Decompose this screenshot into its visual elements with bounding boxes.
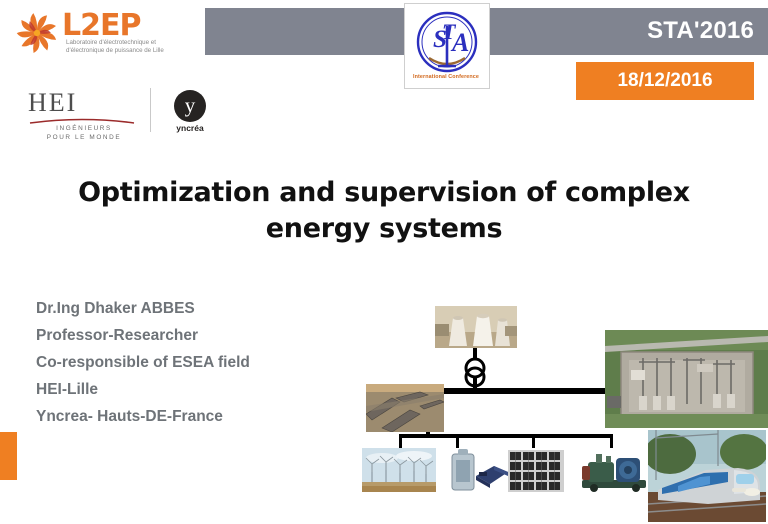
energy-system-diagram bbox=[360, 300, 768, 524]
author-line: HEI-Lille bbox=[36, 376, 250, 403]
pv-array-image bbox=[508, 450, 564, 492]
l2ep-subtitle-line1: Laboratoire d'électrotechnique et bbox=[66, 39, 196, 47]
generator-image bbox=[578, 448, 650, 494]
solar-panel-field-photo bbox=[366, 384, 444, 432]
author-line: Co-responsible of ESEA field bbox=[36, 349, 250, 376]
wire-feeder-pv bbox=[532, 434, 535, 448]
author-line: Yncrea- Hauts-DE-France bbox=[36, 403, 250, 430]
l2ep-wordmark: L2EP bbox=[62, 8, 140, 43]
wind-farm-photo bbox=[362, 448, 436, 492]
author-block: Dr.Ing Dhaker ABBES Professor-Researcher… bbox=[36, 295, 250, 430]
hei-wordmark: HEI bbox=[28, 88, 77, 118]
hei-logo: HEI INGÉNIEURS POUR LE MONDE bbox=[28, 88, 138, 140]
sta-logo-caption: International Conference bbox=[404, 74, 488, 80]
yncrea-monogram: y bbox=[174, 90, 206, 122]
yncrea-logo: y yncréa bbox=[168, 90, 212, 138]
pinwheel-icon bbox=[14, 10, 60, 56]
diesel-generator-photo bbox=[578, 448, 650, 494]
yncrea-wordmark: yncréa bbox=[168, 123, 212, 133]
train-image bbox=[648, 430, 766, 522]
transformer-1-icon bbox=[458, 356, 492, 390]
svg-text:A: A bbox=[450, 28, 469, 57]
logo-divider bbox=[150, 88, 151, 132]
battery-storage-photo bbox=[442, 446, 512, 494]
page-title-line2: energy systems bbox=[34, 211, 734, 247]
substation-image bbox=[605, 330, 768, 428]
page-title-line1: Optimization and supervision of complex bbox=[34, 175, 734, 211]
l2ep-subtitle-line2: d'électronique de puissance de Lille bbox=[66, 47, 196, 55]
author-line: Dr.Ing Dhaker ABBES bbox=[36, 295, 250, 322]
busbar-low-voltage bbox=[399, 434, 613, 438]
busbar-high-voltage bbox=[430, 388, 608, 394]
solar-field-image bbox=[366, 384, 444, 432]
author-line: Professor-Researcher bbox=[36, 322, 250, 349]
substation-aerial-photo bbox=[605, 330, 768, 428]
hei-tagline: INGÉNIEURS POUR LE MONDE bbox=[34, 124, 134, 142]
wind-farm-image bbox=[362, 448, 436, 492]
slide-root: STA'2016 18/12/2016 S T A International … bbox=[0, 0, 768, 524]
l2ep-subtitle: Laboratoire d'électrotechnique et d'élec… bbox=[66, 39, 196, 55]
pv-module-array-photo bbox=[508, 450, 564, 492]
wire-feeder-wind bbox=[399, 434, 402, 448]
date-label: 18/12/2016 bbox=[576, 70, 754, 92]
hei-tagline-line1: INGÉNIEURS bbox=[34, 124, 134, 133]
storage-unit-image bbox=[442, 446, 512, 494]
cooling-towers-image bbox=[435, 306, 517, 348]
l2ep-logo: L2EP Laboratoire d'électrotechnique et d… bbox=[14, 8, 192, 60]
page-title: Optimization and supervision of complex … bbox=[34, 175, 734, 247]
wire-feeder-generator bbox=[610, 434, 613, 448]
accent-block bbox=[0, 432, 17, 480]
cooling-towers-photo bbox=[435, 306, 517, 348]
conference-title: STA'2016 bbox=[647, 17, 754, 45]
hei-tagline-line2: POUR LE MONDE bbox=[34, 133, 134, 142]
high-speed-train-photo bbox=[648, 430, 766, 522]
